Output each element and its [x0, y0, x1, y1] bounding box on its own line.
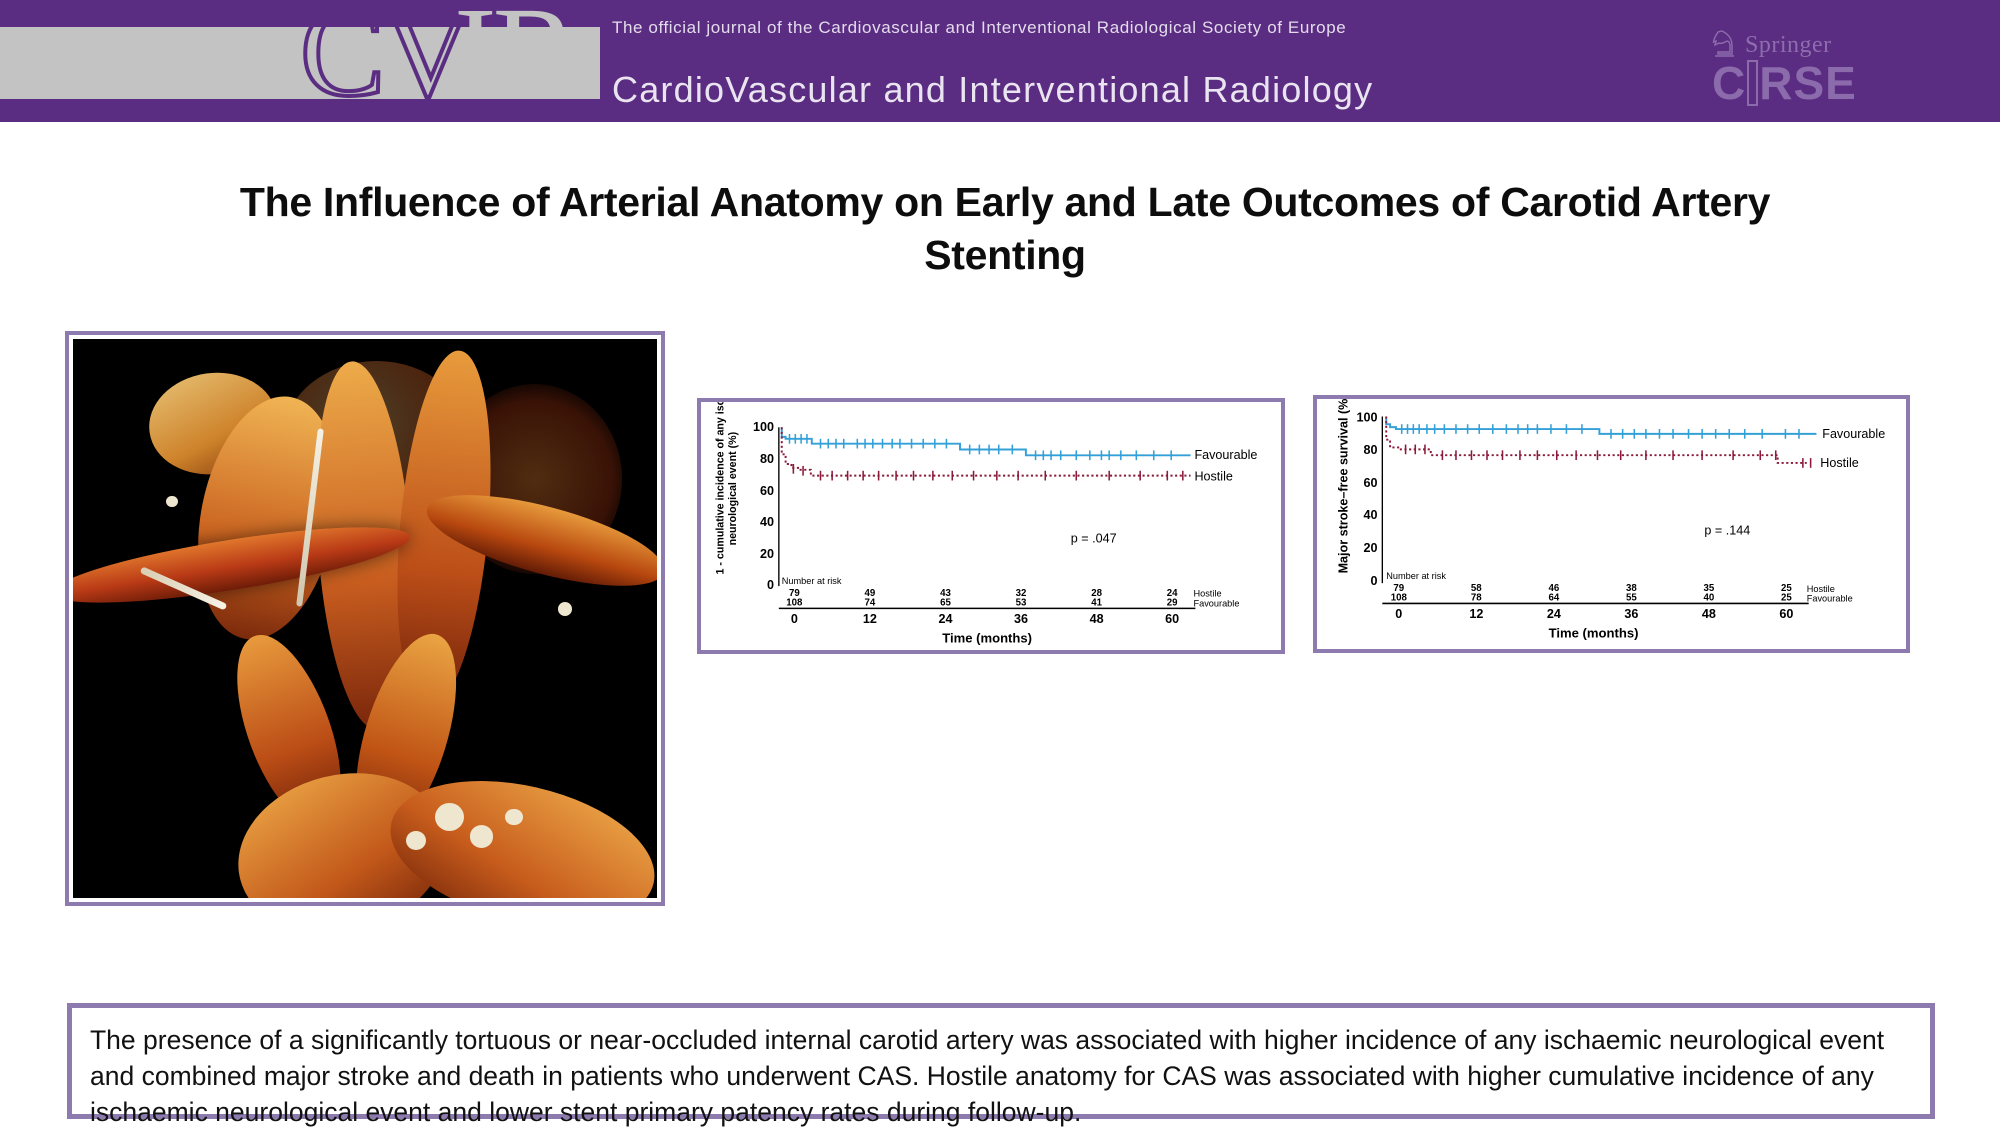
chart-1-risk-row-hostile: 79 49 43 32 28 24 Hostile	[789, 588, 1222, 599]
svg-text:0: 0	[791, 612, 798, 626]
svg-text:108: 108	[786, 597, 803, 608]
svg-text:80: 80	[1363, 443, 1377, 457]
cirse-logo-c: C	[1712, 56, 1746, 110]
chart-2-xlabel: Time (months)	[1549, 625, 1639, 640]
chart-2-risk-row-hostile: 79 58 46 38 35 25 Hostile	[1393, 583, 1834, 594]
svg-text:78: 78	[1471, 593, 1482, 604]
svg-text:20: 20	[1363, 541, 1377, 555]
svg-text:12: 12	[1469, 607, 1483, 621]
chart-2-series-favourable: Favourable	[1386, 416, 1885, 440]
svg-text:0: 0	[767, 578, 774, 592]
svg-text:60: 60	[1165, 612, 1179, 626]
cirse-logo-bar-icon	[1747, 60, 1758, 106]
chart-1-risk-table-header: Number at risk	[782, 576, 842, 586]
chart-1-risk-row-favourable: 108 74 65 53 41 29 Favourable	[786, 597, 1239, 608]
springer-wordmark: Springer	[1745, 32, 1832, 59]
conclusion-text: The presence of a significantly tortuous…	[90, 1022, 1912, 1130]
kaplan-meier-chart-panel-ischaemic-event: 1 - cumulative incidence of any ischaemi…	[697, 398, 1285, 654]
svg-text:48: 48	[1702, 607, 1716, 621]
svg-text:25: 25	[1781, 593, 1792, 604]
svg-text:74: 74	[865, 597, 876, 608]
chart-1-svg: 1 - cumulative incidence of any ischaemi…	[701, 402, 1281, 650]
svg-text:Favourable: Favourable	[1193, 598, 1239, 608]
ct-angiography-figure-panel	[65, 331, 665, 906]
cvir-logo: CV IR	[300, 0, 620, 110]
svg-text:Favourable: Favourable	[1807, 594, 1853, 604]
svg-text:40: 40	[760, 515, 774, 529]
svg-text:Hostile: Hostile	[1807, 584, 1835, 594]
chart-1-legend-hostile: Hostile	[1194, 469, 1232, 483]
svg-text:Hostile: Hostile	[1193, 589, 1221, 599]
cirse-logo-rse: RSE	[1759, 56, 1857, 110]
cirse-logo: C RSE	[1712, 56, 1857, 110]
chart-1-p-value: p = .047	[1071, 531, 1117, 545]
svg-text:100: 100	[1356, 410, 1377, 424]
journal-banner: CV IR The official journal of the Cardio…	[0, 0, 2000, 122]
ct-angiography-image	[73, 339, 657, 898]
chart-1-y-ticks: 100 80 60 40 20 0	[753, 420, 774, 592]
svg-text:60: 60	[760, 484, 774, 498]
svg-text:41: 41	[1091, 597, 1102, 608]
chart-1-xlabel: Time (months)	[942, 630, 1032, 645]
page-title: The Influence of Arterial Anatomy on Ear…	[180, 176, 1830, 282]
banner-strapline: The official journal of the Cardiovascul…	[612, 18, 1346, 38]
chart-1-x-ticks: 0 12 24 36 48 60	[791, 612, 1179, 626]
svg-text:100: 100	[753, 420, 774, 434]
svg-text:0: 0	[1370, 574, 1377, 588]
banner-journal-name: CardioVascular and Interventional Radiol…	[612, 69, 1373, 111]
svg-text:55: 55	[1626, 593, 1637, 604]
svg-text:0: 0	[1395, 607, 1402, 621]
svg-text:60: 60	[1363, 476, 1377, 490]
svg-text:40: 40	[1363, 508, 1377, 522]
chart-1-ylabel-line2: neurological event (%)	[727, 431, 739, 545]
cvir-logo-ir-text: IR	[454, 0, 574, 110]
svg-text:48: 48	[1090, 612, 1104, 626]
svg-text:64: 64	[1548, 593, 1559, 604]
svg-text:36: 36	[1624, 607, 1638, 621]
kaplan-meier-chart-panel-major-stroke-free-survival: Major stroke–free survival (%) 100 80 60…	[1313, 395, 1910, 653]
chart-2-legend-favourable: Favourable	[1822, 427, 1885, 441]
chart-2-ylabel: Major stroke–free survival (%)	[1336, 399, 1350, 573]
chart-2-series-hostile: Hostile	[1386, 416, 1859, 469]
svg-text:80: 80	[760, 452, 774, 466]
chart-2-svg: Major stroke–free survival (%) 100 80 60…	[1317, 399, 1906, 649]
svg-text:36: 36	[1014, 612, 1028, 626]
svg-text:29: 29	[1167, 597, 1178, 608]
svg-text:60: 60	[1779, 607, 1793, 621]
conclusion-panel: The presence of a significantly tortuous…	[67, 1003, 1935, 1119]
chart-1-series-favourable: Favourable	[782, 427, 1258, 462]
cvir-logo-cv-text: CV	[300, 0, 470, 110]
svg-text:53: 53	[1016, 597, 1027, 608]
chart-2-risk-table-header: Number at risk	[1386, 571, 1446, 581]
chart-2-p-value: p = .144	[1704, 524, 1750, 538]
chart-2-x-ticks: 0 12 24 36 48 60	[1395, 607, 1793, 621]
svg-text:65: 65	[940, 597, 951, 608]
chart-2-y-ticks: 100 80 60 40 20 0	[1356, 410, 1377, 588]
svg-text:24: 24	[1547, 607, 1561, 621]
chart-2-legend-hostile: Hostile	[1820, 456, 1858, 470]
svg-text:12: 12	[863, 612, 877, 626]
svg-text:24: 24	[938, 612, 952, 626]
chart-1-legend-favourable: Favourable	[1194, 448, 1257, 462]
svg-text:108: 108	[1391, 593, 1408, 604]
chart-2-risk-row-favourable: 108 78 64 55 40 25 Favourable	[1391, 593, 1853, 604]
svg-text:20: 20	[760, 547, 774, 561]
chart-1-ylabel-line1: 1 - cumulative incidence of any ischaemi…	[715, 402, 727, 574]
svg-text:40: 40	[1704, 593, 1715, 604]
